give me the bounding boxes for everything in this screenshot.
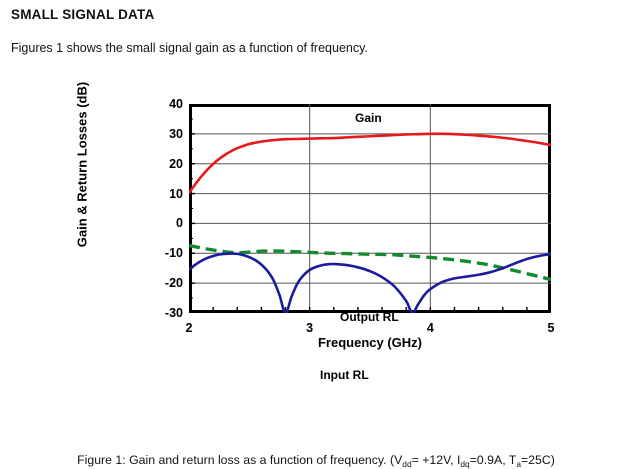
series-label-gain: Gain (355, 111, 382, 125)
x-tick-label: 2 (174, 321, 204, 335)
y-tick-label: 40 (147, 98, 183, 110)
y-tick-label: 30 (147, 128, 183, 140)
y-tick-label: -20 (147, 277, 183, 289)
page-title: SMALL SIGNAL DATA (11, 7, 154, 22)
caption-sub-vdd: dd (402, 459, 411, 469)
y-tick-label: 0 (147, 217, 183, 229)
y-axis-title: Gain & Return Losses (dB) (75, 65, 90, 265)
caption-part-2: = +12V, I (412, 453, 461, 467)
x-tick-label: 3 (295, 321, 325, 335)
y-tick-label: -30 (147, 307, 183, 319)
caption-sub-ta: a (516, 459, 521, 469)
plot-canvas (189, 104, 551, 313)
series-label-output-rl: Output RL (340, 310, 399, 324)
y-tick-label: 10 (147, 188, 183, 200)
caption-sub-idq: dq (460, 459, 469, 469)
page-root: SMALL SIGNAL DATA Figures 1 shows the sm… (0, 0, 632, 410)
intro-paragraph: Figures 1 shows the small signal gain as… (11, 41, 368, 55)
y-tick-label: 20 (147, 158, 183, 170)
figure-caption: Figure 1: Gain and return loss as a func… (0, 453, 632, 467)
caption-part-3: =0.9A, T (470, 453, 517, 467)
series-line-output-rl (189, 246, 551, 280)
figure-1: Gain & Return Losses (dB) -30-20-1001020… (0, 85, 632, 410)
y-tick-label: -10 (147, 247, 183, 259)
caption-part-4: =25C) (521, 453, 555, 467)
caption-part-1: Figure 1: Gain and return loss as a func… (77, 453, 402, 467)
series-label-input-rl: Input RL (320, 368, 369, 382)
x-axis-title: Frequency (GHz) (189, 335, 551, 350)
x-tick-label: 4 (415, 321, 445, 335)
x-tick-label: 5 (536, 321, 566, 335)
